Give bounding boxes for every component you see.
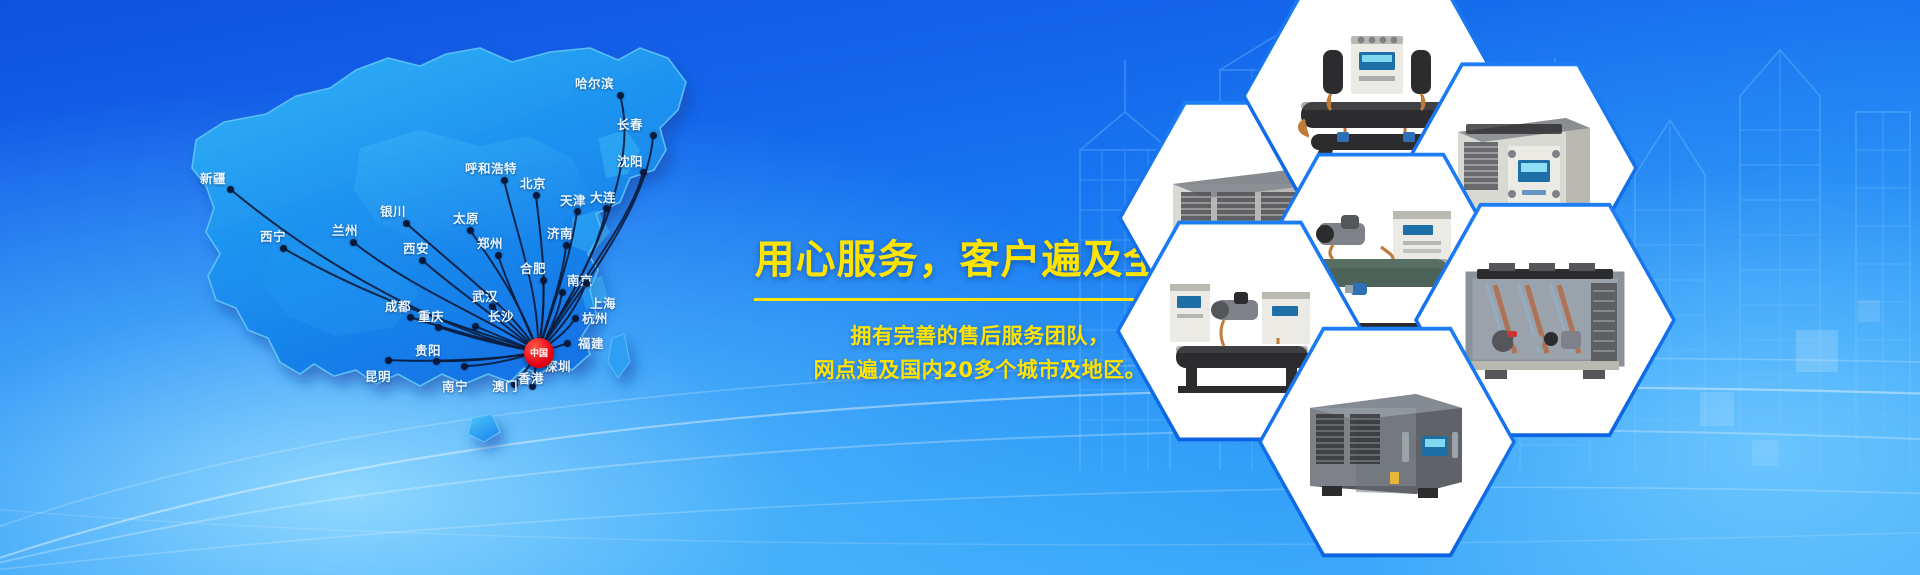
city-dot[interactable]: [350, 239, 357, 246]
city-label: 兰州: [332, 220, 358, 239]
city-dot[interactable]: [501, 177, 508, 184]
city-label: 呼和浩特: [465, 158, 517, 177]
hub-marker-guangzhou[interactable]: 中国: [524, 338, 554, 368]
city-label: 长沙: [488, 306, 514, 325]
hub-label: 中国: [530, 349, 548, 358]
city-label: 长春: [617, 114, 643, 133]
city-label: 银川: [380, 201, 406, 220]
city-dot[interactable]: [435, 324, 442, 331]
city-label: 南京: [567, 270, 593, 289]
city-label: 大连: [590, 187, 616, 206]
city-dot[interactable]: [564, 340, 571, 347]
city-label: 北京: [520, 173, 546, 192]
city-label: 新疆: [200, 168, 226, 187]
city-dot[interactable]: [461, 363, 468, 370]
box-type-water-chiller-icon: [1294, 374, 1480, 510]
city-label: 重庆: [418, 306, 444, 325]
city-dot[interactable]: [533, 192, 540, 199]
city-dot[interactable]: [617, 92, 624, 99]
city-dot[interactable]: [495, 252, 502, 259]
china-service-map: 哈尔滨长春沈阳大连呼和浩特北京天津新疆银川太原兰州西宁西安郑州济南合肥南京上海杭…: [120, 18, 820, 468]
city-label: 济南: [547, 223, 573, 242]
city-label: 贵阳: [415, 340, 441, 359]
promo-banner: 哈尔滨长春沈阳大连呼和浩特北京天津新疆银川太原兰州西宁西安郑州济南合肥南京上海杭…: [0, 0, 1920, 575]
city-dot[interactable]: [572, 315, 579, 322]
city-dot[interactable]: [280, 245, 287, 252]
city-label: 西安: [403, 238, 429, 257]
city-dot[interactable]: [650, 132, 657, 139]
air-cooled-screw-unit-icon: [1451, 249, 1639, 391]
city-label: 澳门: [492, 376, 518, 395]
city-dot[interactable]: [640, 169, 647, 176]
city-dot[interactable]: [385, 357, 392, 364]
city-label: 合肥: [520, 258, 546, 277]
city-label: 哈尔滨: [575, 73, 614, 92]
city-label: 香港: [518, 368, 544, 387]
city-dot[interactable]: [407, 314, 414, 321]
city-dot[interactable]: [467, 227, 474, 234]
city-dot[interactable]: [563, 242, 570, 249]
city-dot[interactable]: [433, 358, 440, 365]
city-dot[interactable]: [559, 289, 566, 296]
city-label: 南宁: [442, 376, 468, 395]
city-label: 昆明: [365, 366, 391, 385]
city-label: 沈阳: [617, 151, 643, 170]
city-dot[interactable]: [403, 220, 410, 227]
city-dot[interactable]: [603, 205, 610, 212]
city-dot[interactable]: [227, 186, 234, 193]
city-dot[interactable]: [574, 208, 581, 215]
city-label: 杭州: [582, 308, 608, 327]
city-dot[interactable]: [583, 280, 590, 287]
city-label: 西宁: [260, 226, 286, 245]
city-dot[interactable]: [472, 323, 479, 330]
city-dot[interactable]: [419, 257, 426, 264]
city-label: 太原: [453, 208, 479, 227]
city-dot[interactable]: [540, 277, 547, 284]
city-label: 福建: [578, 333, 604, 352]
product-hex-gallery: [1130, 0, 1920, 575]
city-label: 郑州: [477, 233, 503, 252]
city-label: 天津: [560, 190, 586, 209]
city-label: 武汉: [472, 286, 498, 305]
city-label: 成都: [385, 296, 411, 315]
